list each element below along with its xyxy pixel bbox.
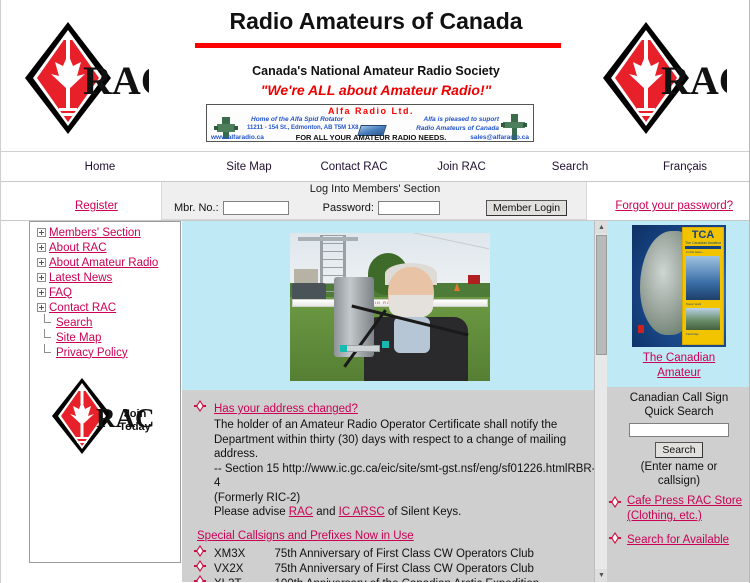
expand-plus-icon[interactable] (37, 273, 46, 282)
expand-plus-icon[interactable] (37, 258, 46, 267)
ad-right-line-1: Alfa is pleased to suport (424, 116, 500, 123)
sidebar-item-about-amateur-radio[interactable]: About Amateur Radio (30, 255, 180, 270)
callsign-row[interactable]: XL3T 100th Anniversary of the Canadian A… (192, 574, 597, 583)
notice-line-1: The holder of an Amateur Radio Operator … (214, 419, 557, 431)
callsign-search-input[interactable] (629, 423, 729, 437)
site-slogan: "We're ALL about Amateur Radio!" (1, 82, 750, 98)
notice-heading-row[interactable]: Has your address changed? (192, 399, 597, 417)
quick-search-hint: (Enter name or callsign) (607, 460, 750, 488)
nav-item-search[interactable]: Search (514, 161, 626, 173)
content-scrollbar[interactable]: ▲ ▼ (594, 221, 607, 582)
sidebar-item-site-map[interactable]: Site Map (30, 330, 180, 345)
register-link[interactable]: Register (75, 200, 118, 212)
search-available-link[interactable]: Search for Available (627, 533, 729, 548)
callsign-quick-search: Canadian Call Sign Quick Search Search (… (607, 387, 750, 488)
rac-diamond-bullet-icon (194, 400, 206, 412)
site-header: RAC RAC Radio Amateurs of Canada Canada'… (1, 0, 749, 152)
news-text-panel: Has your address changed? The holder of … (182, 391, 607, 582)
nav-item-site-map[interactable]: Site Map (199, 161, 299, 173)
password-label: Password: (323, 202, 374, 214)
sidebar-item-label: Search (56, 317, 92, 329)
ic-arsc-link[interactable]: IC ARSC (339, 506, 385, 518)
tca-subtitle-text: The Canadian Amateur (683, 241, 723, 245)
login-heading: Log Into Members' Section (162, 183, 588, 195)
scroll-down-arrow-icon[interactable]: ▼ (595, 569, 607, 582)
advise-prefix: Please advise (214, 506, 289, 518)
sidebar-item-label: Members' Section (49, 227, 141, 239)
quick-search-title-line-2: Quick Search (644, 406, 713, 418)
canada-flag-marker-icon (638, 325, 644, 333)
sidebar-item-privacy-policy[interactable]: Privacy Policy (30, 345, 180, 360)
sidebar-item-contact-rac[interactable]: Contact RAC (30, 300, 180, 315)
sidebar-item-search[interactable]: Search (30, 315, 180, 330)
scrollbar-thumb[interactable] (596, 235, 607, 355)
ad-title: Alfa Radio Ltd. (207, 106, 534, 116)
sidebar-tree: Members' Section About RAC About Amateur… (30, 222, 180, 360)
notice-body: The holder of an Amateur Radio Operator … (192, 418, 597, 520)
nav-item-francais[interactable]: Français (626, 161, 744, 173)
rac-diamond-bullet-icon (609, 532, 621, 544)
join-line-2: Today (119, 421, 151, 433)
notice-line-3: -- Section 15 http://www.ic.gc.ca/eic/si… (214, 463, 596, 490)
rac-diamond-bullet-icon (609, 496, 621, 508)
nav-item-contact-rac[interactable]: Contact RAC (299, 161, 409, 173)
right-sidebar: TCA The Canadian Amateur In this issue..… (607, 221, 750, 582)
sponsor-banner-alfa-radio[interactable]: Alfa Radio Ltd. Home of the Alfa Spid Ro… (206, 104, 534, 142)
ad-center-line: FOR ALL YOUR AMATEUR RADIO NEEDS. (207, 133, 534, 142)
join-line-1: Join (124, 408, 147, 420)
quick-search-hint-line-2: callsign) (658, 475, 700, 487)
member-number-label: Mbr. No.: (174, 202, 219, 214)
tca-logo-text: TCA (683, 229, 723, 241)
advise-suffix: of Silent Keys. (385, 506, 462, 518)
tca-caption-line-2: Amateur (657, 367, 700, 379)
rac-link[interactable]: RAC (289, 506, 313, 518)
tree-branch-icon (44, 348, 53, 357)
callsign-value: XL3T (214, 578, 270, 583)
notice-line-2: Department within thirty (30) days with … (214, 434, 566, 461)
sidebar-item-latest-news[interactable]: Latest News (30, 270, 180, 285)
forgot-password-link[interactable]: Forgot your password? (615, 200, 733, 212)
callsign-description: 100th Anniversary of the Canadian Arctic… (274, 578, 539, 583)
address-changed-link[interactable]: Has your address changed? (214, 403, 358, 415)
site-tagline: Canada's National Amateur Radio Society (1, 64, 750, 78)
tree-branch-icon (44, 333, 53, 342)
callsign-row[interactable]: VX2X 75th Anniversary of First Class CW … (192, 559, 597, 574)
password-input[interactable] (378, 201, 440, 215)
cafe-press-store-link[interactable]: Cafe Press RAC Store (Clothing, etc.) (627, 494, 750, 524)
callsign-row[interactable]: XM3X 75th Anniversary of First Class CW … (192, 544, 597, 559)
notice-line-4: (Formerly RIC-2) (214, 492, 300, 504)
tree-branch-icon (44, 318, 53, 327)
callsigns-section: Special Callsigns and Prefixes Now in Us… (192, 520, 597, 544)
sidebar-item-label: Latest News (49, 272, 112, 284)
sidebar-item-faq[interactable]: FAQ (30, 285, 180, 300)
quick-search-title: Canadian Call Sign Quick Search (607, 387, 750, 419)
browser-page: RAC RAC Radio Amateurs of Canada Canada'… (0, 0, 750, 583)
ad-right-line-2: Radio Amateurs of Canada (416, 125, 499, 132)
quick-search-hint-line-1: (Enter name or (641, 461, 718, 473)
feature-photo-panel: ALFA SPID ROTATOR (182, 221, 607, 391)
sidebar-item-label: FAQ (49, 287, 72, 299)
sidebar-item-label: Contact RAC (49, 302, 116, 314)
expand-plus-icon[interactable] (37, 243, 46, 252)
tca-caption-line-1: The Canadian (643, 352, 715, 364)
magazine-panel: TCA The Canadian Amateur In this issue..… (607, 221, 750, 387)
sidebar-item-label: About Amateur Radio (49, 257, 158, 269)
main-content: ALFA SPID ROTATOR (182, 221, 607, 582)
rac-diamond-bullet-icon (194, 545, 206, 557)
sidebar-navigation: Members' Section About RAC About Amateur… (29, 221, 181, 563)
special-callsigns-title[interactable]: Special Callsigns and Prefixes Now in Us… (192, 530, 414, 542)
member-login-strip: Register Log Into Members' Section Mbr. … (1, 182, 749, 221)
login-fields-row: Mbr. No.: Password: Member Login (162, 200, 588, 216)
sidebar-item-members-section[interactable]: Members' Section (30, 225, 180, 240)
tca-cover-image[interactable]: TCA The Canadian Amateur In this issue..… (632, 225, 726, 347)
join-rac-text: Join Today (106, 408, 164, 434)
cafe-press-store-row[interactable]: Cafe Press RAC Store (Clothing, etc.) (607, 494, 750, 524)
sidebar-item-label: Site Map (56, 332, 101, 344)
expand-plus-icon[interactable] (37, 303, 46, 312)
title-divider (195, 43, 561, 48)
tca-cover-inset: TCA The Canadian Amateur In this issue..… (682, 227, 724, 345)
main-navigation: Home Site Map Contact RAC Join RAC Searc… (1, 152, 749, 182)
ad-left-line-2: 11211 - 154 St., Edmonton, AB T5M 1X8 (247, 125, 358, 131)
quick-search-title-line-1: Canadian Call Sign (630, 392, 728, 404)
sidebar-item-about-rac[interactable]: About RAC (30, 240, 180, 255)
feature-photo-operator-with-antenna: ALFA SPID ROTATOR (290, 233, 490, 381)
tca-caption-link[interactable]: The Canadian Amateur (607, 351, 750, 381)
rac-diamond-bullet-icon (194, 560, 206, 572)
scroll-up-arrow-icon[interactable]: ▲ (595, 221, 607, 234)
nav-item-home[interactable]: Home (1, 161, 199, 173)
ad-left-line-1: Home of the Alfa Spid Rotator (251, 116, 343, 123)
join-rac-banner[interactable]: RAC Join Today (44, 377, 168, 455)
callsign-search-button[interactable]: Search (655, 442, 702, 458)
sidebar-item-label: Privacy Policy (56, 347, 128, 359)
rac-diamond-bullet-icon (194, 575, 206, 583)
member-number-input[interactable] (223, 201, 289, 215)
expand-plus-icon[interactable] (37, 288, 46, 297)
page-title: Radio Amateurs of Canada (1, 8, 750, 35)
sidebar-item-label: About RAC (49, 242, 107, 254)
search-available-row[interactable]: Search for Available (607, 530, 750, 548)
expand-plus-icon[interactable] (37, 228, 46, 237)
page-body: Members' Section About RAC About Amateur… (1, 221, 749, 582)
member-login-button[interactable]: Member Login (486, 200, 567, 216)
login-panel: Log Into Members' Section Mbr. No.: Pass… (161, 182, 587, 220)
nav-item-join-rac[interactable]: Join RAC (409, 161, 514, 173)
advise-middle: and (313, 506, 339, 518)
